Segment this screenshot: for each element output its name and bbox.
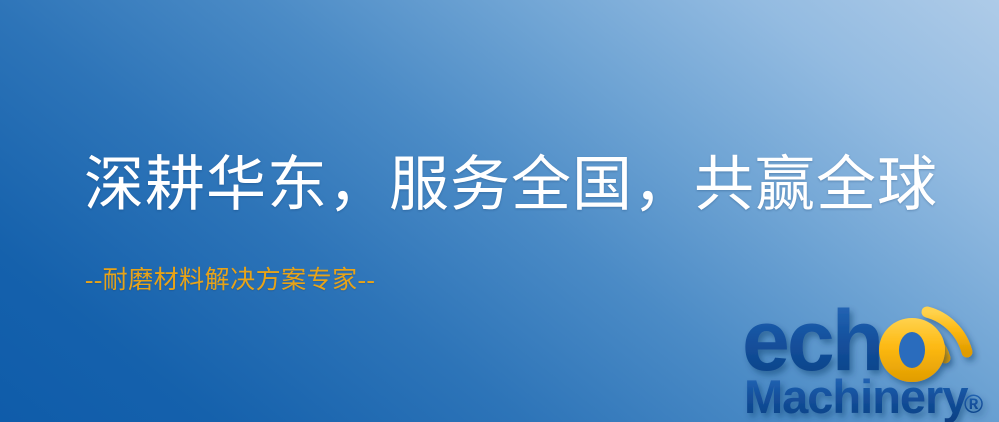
tagline: --耐磨材料解决方案专家--: [85, 266, 375, 296]
logo-wordmark-machinery: Machinery: [744, 370, 968, 422]
echo-machinery-logo: ech Machinery ®: [736, 288, 999, 422]
promo-banner: 深耕华东，服务全国，共赢全球 --耐磨材料解决方案专家--: [0, 0, 999, 422]
page-title: 深耕华东，服务全国，共赢全球: [84, 152, 938, 219]
registered-trademark-icon: ®: [964, 389, 983, 419]
